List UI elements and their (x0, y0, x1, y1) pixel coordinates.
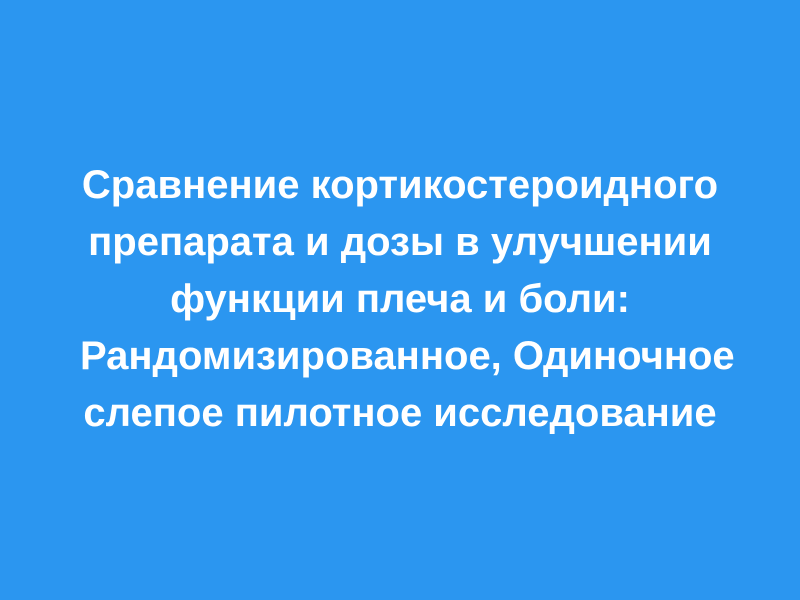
title-line-4: Рандомизированное, Одиночное (80, 328, 720, 385)
title-line-1: Сравнение кортикостероидного (80, 157, 720, 214)
title-line-5: слепое пилотное исследование (80, 385, 720, 442)
title-line-3: функции плеча и боли: (80, 271, 720, 328)
page-title: Сравнение кортикостероидного препарата и… (80, 157, 720, 442)
title-line-2: препарата и дозы в улучшении (80, 214, 720, 271)
title-card: Сравнение кортикостероидного препарата и… (0, 0, 800, 600)
